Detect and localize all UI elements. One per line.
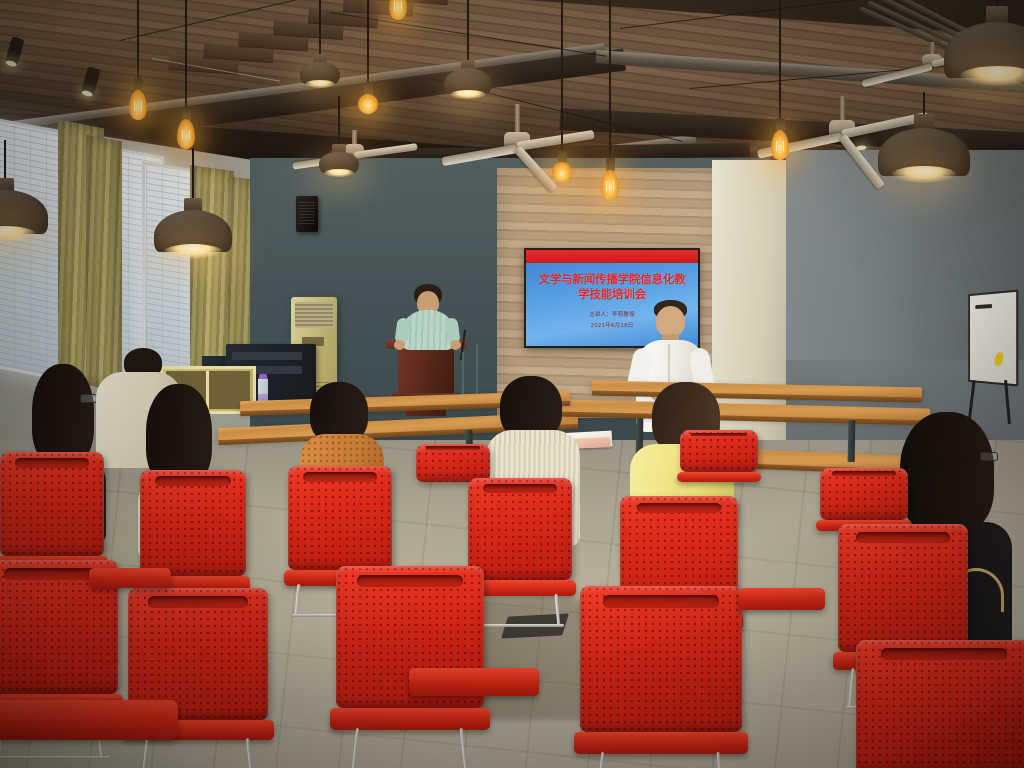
pendant-dome-lamp	[296, 0, 344, 96]
chair[interactable]	[414, 668, 534, 726]
bottle-cap	[259, 374, 267, 379]
ac-vent	[295, 302, 333, 328]
pendant-dome-lamp	[316, 96, 362, 186]
marker-tray	[975, 304, 992, 309]
hair	[900, 412, 994, 534]
chair[interactable]	[580, 586, 742, 768]
slide-title-line1: 文学与新闻传播学院信息化教	[532, 272, 692, 287]
whiteboard-easel	[962, 292, 1018, 422]
chair[interactable]	[742, 588, 822, 630]
slide-title: 文学与新闻传播学院信息化教 学技能培训会	[532, 272, 692, 302]
head	[656, 306, 685, 337]
light-bulb-icon	[771, 130, 789, 160]
lectern-body	[398, 349, 454, 393]
rack-slot	[232, 352, 302, 360]
light-bulb-icon	[129, 90, 147, 120]
chair[interactable]	[680, 430, 758, 480]
classroom-photo: 文学与新闻传播学院信息化教 学技能培训会 主讲人：李莉教授 2021年6月18日	[0, 0, 1024, 768]
chair[interactable]	[0, 700, 170, 768]
pendant-dome-lamp	[0, 140, 50, 270]
pendant-edison-bulb	[770, 0, 790, 160]
person-presenter-podium	[398, 284, 458, 354]
whiteboard-surface	[968, 290, 1018, 387]
hand	[450, 340, 461, 350]
chair[interactable]	[92, 568, 168, 606]
pendant-edison-bulb	[388, 0, 408, 26]
chair[interactable]	[820, 468, 908, 530]
pendant-edison-bulb	[552, 0, 572, 192]
pendant-edison-bulb	[600, 0, 620, 200]
pendant-edison-bulb	[128, 0, 148, 124]
chair[interactable]	[856, 640, 1024, 768]
light-bulb-icon	[177, 119, 195, 149]
hand	[394, 340, 405, 350]
eyeglasses-icon	[980, 452, 998, 461]
wall-speaker-icon	[296, 196, 318, 232]
light-bulb-icon	[389, 0, 407, 20]
light-bulb-icon	[552, 162, 572, 182]
pendant-dome-lamp	[876, 92, 972, 228]
hair	[32, 364, 94, 466]
eyeglasses-icon	[80, 394, 97, 403]
light-bulb-icon	[601, 170, 619, 200]
table-leg	[848, 420, 856, 462]
pendant-dome-lamp	[152, 148, 234, 278]
slide-top-band	[526, 250, 698, 263]
chair[interactable]	[336, 566, 484, 768]
pendant-edison-bulb	[176, 0, 196, 150]
yellow-marker-icon	[993, 351, 1005, 367]
pendant-dome-lamp	[440, 0, 496, 108]
